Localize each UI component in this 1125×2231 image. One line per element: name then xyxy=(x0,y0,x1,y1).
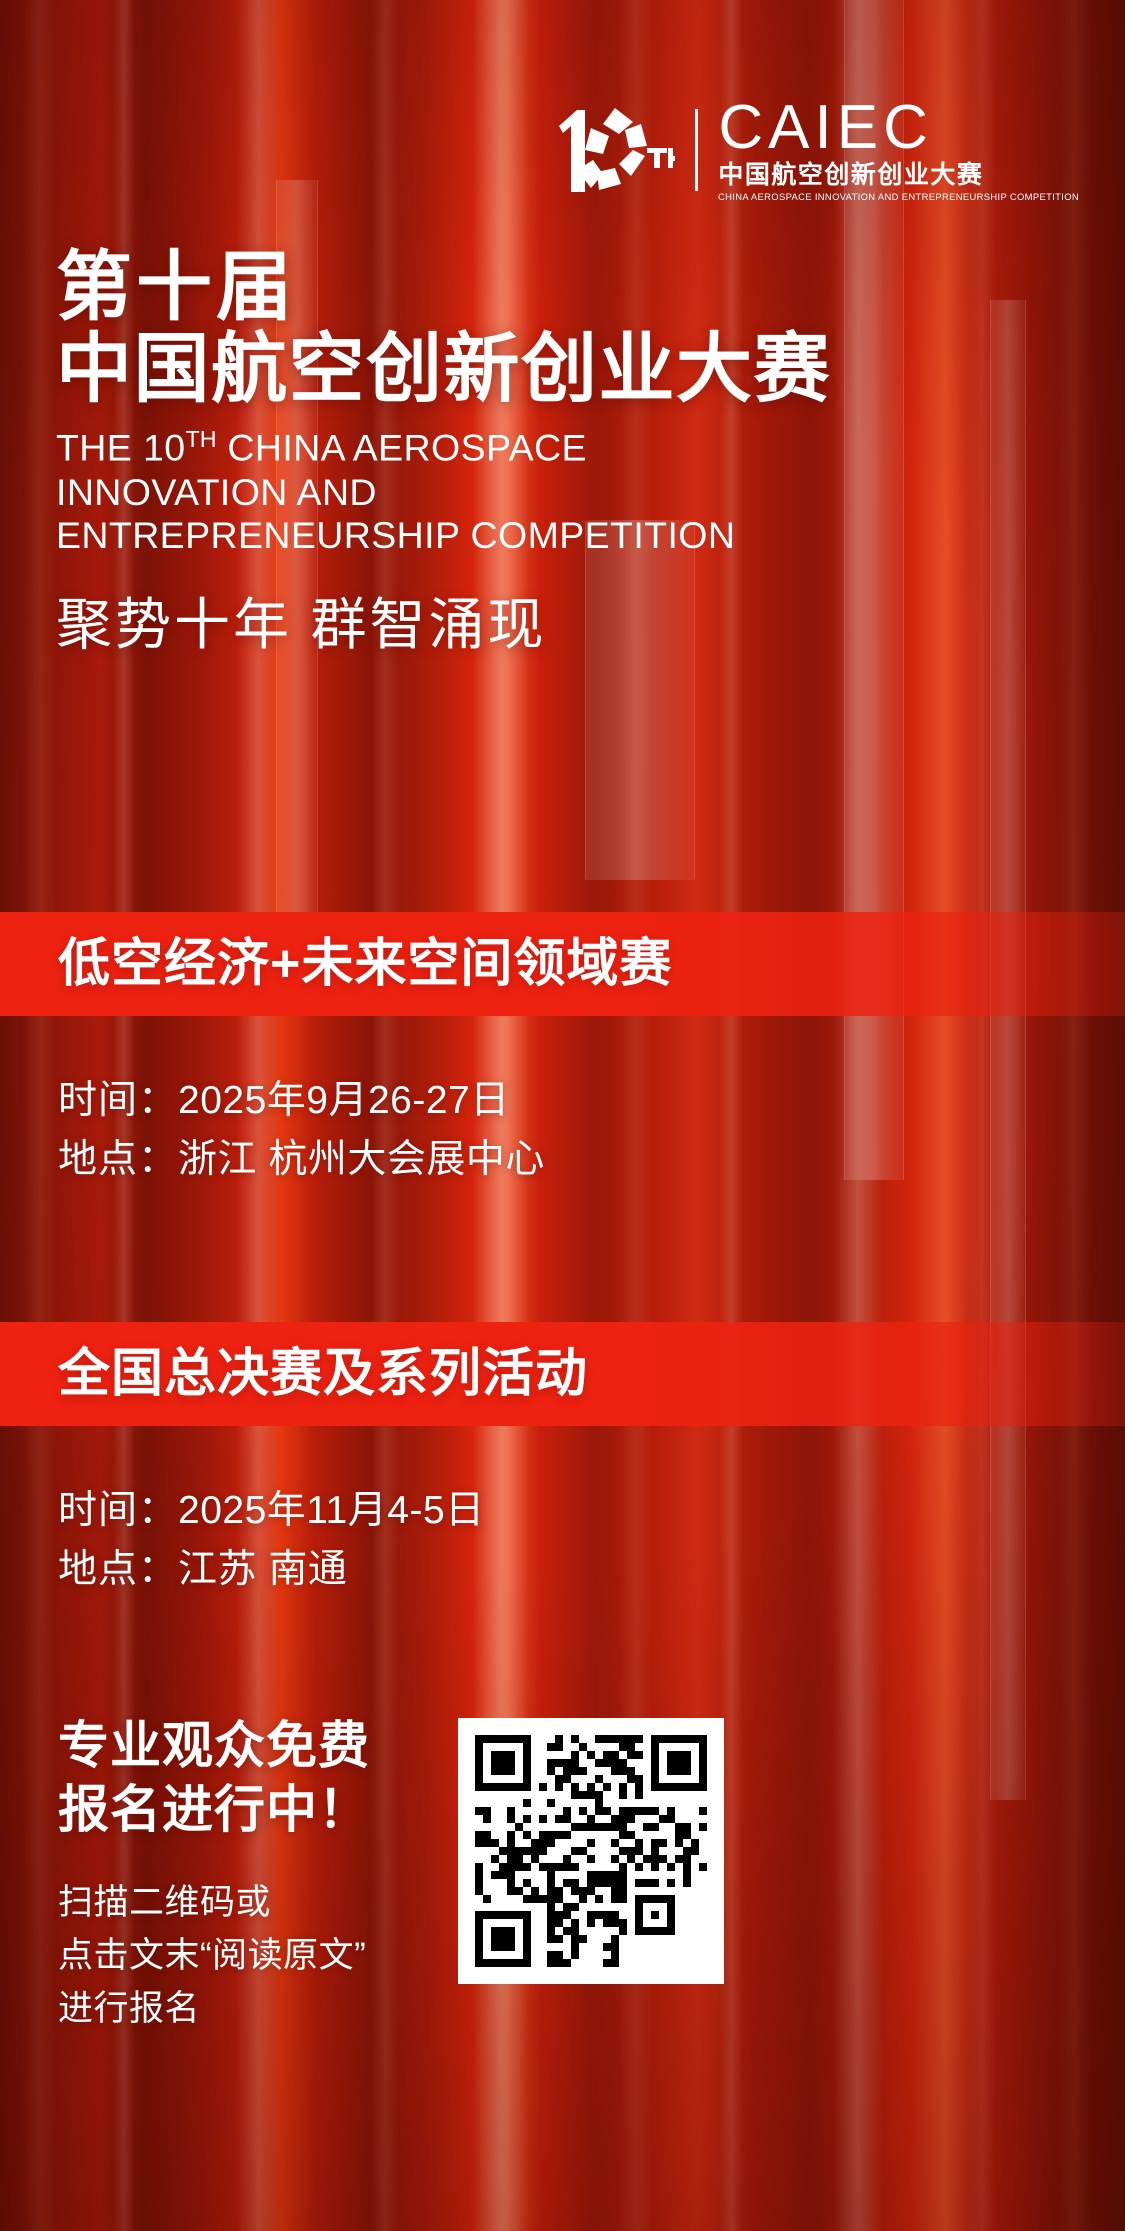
logo-name-en: CHINA AEROSPACE INNOVATION AND ENTREPREN… xyxy=(718,193,1079,203)
registration-headline: 专业观众免费 报名进行中！ xyxy=(58,1714,478,1842)
registration-instruction-line3: 进行报名 xyxy=(58,1982,478,2035)
event-place-value: 江苏 南通 xyxy=(178,1548,347,1591)
caiec-logo: CAIEC 中国航空创新创业大赛 CHINA AEROSPACE INNOVAT… xyxy=(555,98,1083,202)
event-details-regional: 时间：2025年9月26-27日 地点：浙江 杭州大会展中心 xyxy=(58,1072,545,1189)
registration-instruction-line2: 点击文末“阅读原文” xyxy=(58,1929,478,1982)
logo-acronym: CAIEC xyxy=(718,98,932,158)
registration-qr-code[interactable] xyxy=(458,1718,724,1984)
registration-headline-line1: 专业观众免费 xyxy=(58,1714,478,1778)
event-time-label: 时间： xyxy=(58,1489,178,1532)
event-time-label: 时间： xyxy=(58,1079,178,1122)
event-place-row: 地点：江苏 南通 xyxy=(58,1541,485,1600)
event-time-row: 时间：2025年9月26-27日 xyxy=(58,1072,545,1131)
tenth-anniversary-icon xyxy=(555,104,675,196)
event-place-label: 地点： xyxy=(58,1138,178,1181)
registration-headline-line2: 报名进行中！ xyxy=(58,1778,478,1842)
event-place-value: 浙江 杭州大会展中心 xyxy=(178,1138,545,1181)
page-title-english: THE 10TH CHINA AEROSPACE INNOVATION AND … xyxy=(56,426,756,558)
background-streak xyxy=(23,0,57,2231)
event-band-final: 全国总决赛及系列活动 xyxy=(0,1322,1125,1426)
title-block: 第十届 中国航空创新创业大赛 THE 10TH CHINA AEROSPACE … xyxy=(56,248,1066,656)
event-place-row: 地点：浙江 杭州大会展中心 xyxy=(58,1131,545,1190)
event-band-label: 全国总决赛及系列活动 xyxy=(58,1348,588,1400)
event-time-value: 2025年9月26-27日 xyxy=(178,1079,510,1122)
registration-block: 专业观众免费 报名进行中！ 扫描二维码或 点击文末“阅读原文” 进行报名 xyxy=(58,1714,478,2035)
page-title-line2: 中国航空创新创业大赛 xyxy=(56,327,1066,412)
english-title-prefix: THE 10 xyxy=(56,427,186,469)
event-slogan: 聚势十年 群智涌现 xyxy=(56,594,1066,656)
logo-name-cn: 中国航空创新创业大赛 xyxy=(718,163,983,188)
poster-canvas: CAIEC 中国航空创新创业大赛 CHINA AEROSPACE INNOVAT… xyxy=(0,0,1125,2231)
registration-instruction-line1: 扫描二维码或 xyxy=(58,1876,478,1929)
event-place-label: 地点： xyxy=(58,1548,178,1591)
event-band-regional: 低空经济+未来空间领域赛 xyxy=(0,912,1125,1016)
event-time-value: 2025年11月4-5日 xyxy=(178,1489,485,1532)
event-details-final: 时间：2025年11月4-5日 地点：江苏 南通 xyxy=(58,1482,485,1599)
english-title-ordinal: TH xyxy=(186,426,217,452)
qr-code-matrix xyxy=(475,1735,707,1967)
registration-instructions: 扫描二维码或 点击文末“阅读原文” 进行报名 xyxy=(58,1876,478,2036)
page-title-line1: 第十届 xyxy=(56,248,1066,327)
logo-wordmark: CAIEC 中国航空创新创业大赛 CHINA AEROSPACE INNOVAT… xyxy=(718,98,1083,202)
event-band-label: 低空经济+未来空间领域赛 xyxy=(58,938,672,990)
logo-divider xyxy=(695,109,698,191)
event-time-row: 时间：2025年11月4-5日 xyxy=(58,1482,485,1541)
